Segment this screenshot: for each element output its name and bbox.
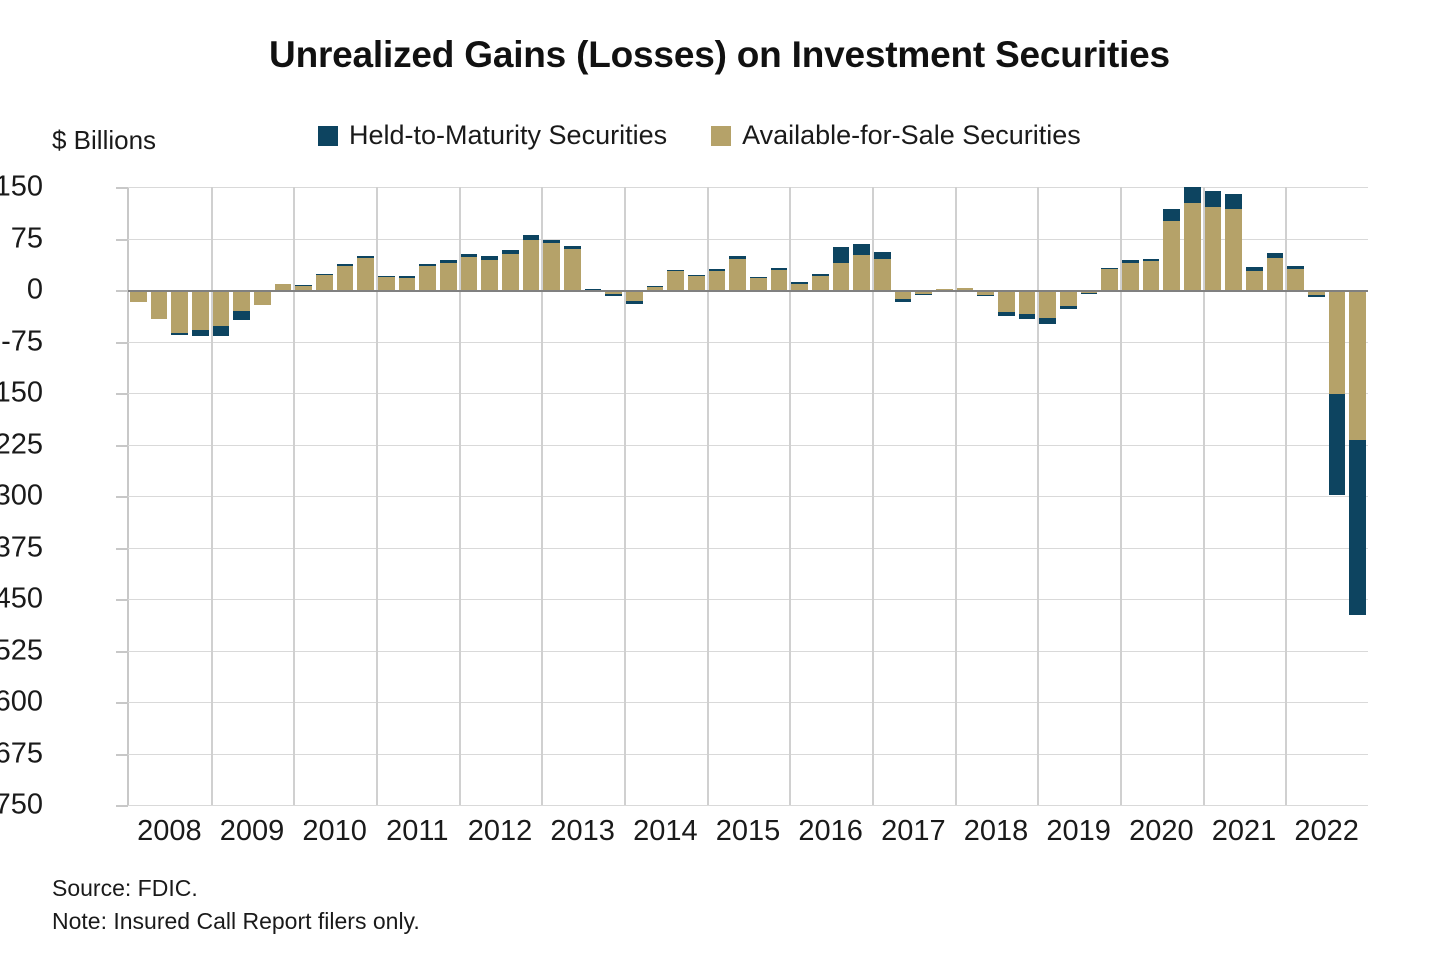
bar-segment-afs[interactable] bbox=[502, 254, 519, 290]
legend-swatch-htm-icon bbox=[318, 126, 338, 146]
y-axis-tick-label: -300 bbox=[0, 480, 43, 513]
x-axis-tick-label: 2012 bbox=[468, 815, 533, 848]
bar-segment-htm[interactable] bbox=[1287, 266, 1304, 269]
y-axis-tick-label: -450 bbox=[0, 583, 43, 616]
bar-segment-afs[interactable] bbox=[771, 270, 788, 290]
bar-segment-afs[interactable] bbox=[233, 290, 250, 311]
gridline bbox=[128, 496, 1368, 497]
x-axis-tick-label: 2016 bbox=[798, 815, 863, 848]
bar-segment-htm[interactable] bbox=[1184, 187, 1201, 203]
bar-segment-afs[interactable] bbox=[812, 276, 829, 290]
gridline bbox=[128, 445, 1368, 446]
x-axis-tick-label: 2017 bbox=[881, 815, 946, 848]
y-axis-tick bbox=[116, 702, 128, 704]
bar-segment-htm[interactable] bbox=[647, 286, 664, 287]
bar-segment-afs[interactable] bbox=[1060, 290, 1077, 306]
bar-segment-htm[interactable] bbox=[1205, 191, 1222, 207]
bar-segment-htm[interactable] bbox=[192, 330, 209, 336]
bar-segment-afs[interactable] bbox=[399, 278, 416, 290]
bar-segment-htm[interactable] bbox=[337, 264, 354, 266]
y-axis-tick bbox=[116, 548, 128, 550]
y-axis-tick-label: -375 bbox=[0, 531, 43, 564]
bar-segment-afs[interactable] bbox=[1101, 269, 1118, 290]
bar-segment-htm[interactable] bbox=[1019, 314, 1036, 319]
y-axis-tick bbox=[116, 496, 128, 498]
bar-segment-htm[interactable] bbox=[502, 250, 519, 254]
chart-title: Unrealized Gains (Losses) on Investment … bbox=[0, 34, 1439, 76]
year-separator bbox=[624, 187, 626, 805]
chart-container: Unrealized Gains (Losses) on Investment … bbox=[0, 0, 1439, 975]
bar-segment-htm[interactable] bbox=[771, 268, 788, 270]
x-axis-tick-label: 2019 bbox=[1046, 815, 1111, 848]
bar-segment-afs[interactable] bbox=[998, 290, 1015, 312]
bar-segment-htm[interactable] bbox=[853, 244, 870, 255]
x-axis-tick-label: 2011 bbox=[386, 815, 448, 848]
y-axis-tick-label: -525 bbox=[0, 634, 43, 667]
y-axis-tick bbox=[116, 342, 128, 344]
bar-segment-htm[interactable] bbox=[316, 274, 333, 275]
bar-segment-afs[interactable] bbox=[1122, 263, 1139, 290]
y-axis-tick-label: 75 bbox=[0, 222, 43, 255]
bar-segment-afs[interactable] bbox=[1287, 269, 1304, 290]
bar-segment-htm[interactable] bbox=[523, 235, 540, 240]
bar-segment-afs[interactable] bbox=[1329, 290, 1346, 394]
bar-segment-afs[interactable] bbox=[337, 266, 354, 290]
bar-segment-afs[interactable] bbox=[1163, 221, 1180, 290]
gridline bbox=[128, 342, 1368, 343]
y-axis-tick-label: -750 bbox=[0, 789, 43, 822]
y-axis-tick-label: -675 bbox=[0, 737, 43, 770]
bar-segment-afs[interactable] bbox=[1205, 207, 1222, 290]
methodology-note: Note: Insured Call Report filers only. bbox=[52, 905, 420, 938]
bar-segment-htm[interactable] bbox=[564, 246, 581, 249]
y-axis-tick-label: -225 bbox=[0, 428, 43, 461]
bar-segment-htm[interactable] bbox=[605, 294, 622, 296]
bar-segment-htm[interactable] bbox=[895, 299, 912, 302]
year-separator bbox=[211, 187, 213, 805]
bar-segment-htm[interactable] bbox=[626, 301, 643, 304]
bar-segment-afs[interactable] bbox=[1039, 290, 1056, 318]
bar-segment-htm[interactable] bbox=[1308, 295, 1325, 296]
bar-segment-htm[interactable] bbox=[481, 256, 498, 259]
bar-segment-afs[interactable] bbox=[874, 259, 891, 290]
bar-segment-afs[interactable] bbox=[564, 249, 581, 290]
bar-segment-htm[interactable] bbox=[1101, 268, 1118, 269]
bar-segment-htm[interactable] bbox=[874, 252, 891, 259]
gridline bbox=[128, 651, 1368, 652]
bar-segment-htm[interactable] bbox=[688, 275, 705, 276]
y-axis-tick bbox=[116, 239, 128, 241]
y-axis-tick-label: 0 bbox=[0, 274, 43, 307]
chart-footnotes: Source: FDIC. Note: Insured Call Report … bbox=[52, 872, 420, 937]
bar-segment-afs[interactable] bbox=[709, 271, 726, 290]
bar-segment-htm[interactable] bbox=[1039, 318, 1056, 324]
bar-segment-htm[interactable] bbox=[440, 260, 457, 263]
y-axis-tick-label: -600 bbox=[0, 686, 43, 719]
legend-label-htm: Held-to-Maturity Securities bbox=[349, 122, 667, 149]
x-axis-tick-label: 2020 bbox=[1129, 815, 1194, 848]
bar-segment-afs[interactable] bbox=[1349, 290, 1366, 440]
y-axis-tick bbox=[116, 805, 128, 807]
x-axis-tick-label: 2022 bbox=[1294, 815, 1359, 848]
bar-segment-htm[interactable] bbox=[709, 269, 726, 271]
bar-segment-htm[interactable] bbox=[233, 311, 250, 321]
chart-legend: Held-to-Maturity SecuritiesAvailable-for… bbox=[318, 122, 1081, 149]
bar-segment-htm[interactable] bbox=[1060, 306, 1077, 309]
gridline bbox=[128, 805, 1368, 806]
y-axis-tick bbox=[116, 290, 128, 292]
bar-segment-afs[interactable] bbox=[254, 290, 271, 305]
bar-segment-htm[interactable] bbox=[667, 270, 684, 271]
bar-segment-htm[interactable] bbox=[1349, 440, 1366, 614]
bar-segment-htm[interactable] bbox=[461, 254, 478, 257]
bar-segment-afs[interactable] bbox=[440, 263, 457, 290]
x-axis-tick-label: 2021 bbox=[1212, 815, 1277, 848]
x-axis-tick-label: 2014 bbox=[633, 815, 698, 848]
bar-segment-htm[interactable] bbox=[812, 274, 829, 276]
bar-segment-afs[interactable] bbox=[667, 271, 684, 290]
bar-segment-afs[interactable] bbox=[543, 243, 560, 290]
bar-segment-htm[interactable] bbox=[915, 294, 932, 295]
source-note: Source: FDIC. bbox=[52, 872, 420, 905]
bar-segment-afs[interactable] bbox=[378, 277, 395, 290]
bar-segment-afs[interactable] bbox=[729, 259, 746, 290]
bar-segment-htm[interactable] bbox=[977, 295, 994, 296]
bar-segment-afs[interactable] bbox=[419, 266, 436, 290]
bar-segment-afs[interactable] bbox=[151, 290, 168, 319]
bar-segment-htm[interactable] bbox=[543, 240, 560, 243]
y-axis-tick bbox=[116, 651, 128, 653]
bar-segment-afs[interactable] bbox=[1267, 258, 1284, 290]
x-axis-tick-label: 2013 bbox=[550, 815, 615, 848]
y-axis-tick bbox=[116, 393, 128, 395]
plot-area: 150750-75-150-225-300-375-450-525-600-67… bbox=[128, 187, 1368, 805]
bar-segment-htm[interactable] bbox=[729, 256, 746, 259]
bar-segment-afs[interactable] bbox=[481, 260, 498, 290]
bar-segment-afs[interactable] bbox=[1246, 271, 1263, 290]
bar-segment-htm[interactable] bbox=[833, 247, 850, 262]
gridline bbox=[128, 599, 1368, 600]
y-axis-tick bbox=[116, 754, 128, 756]
legend-label-afs: Available-for-Sale Securities bbox=[742, 122, 1081, 149]
bar-segment-htm[interactable] bbox=[1163, 209, 1180, 221]
gridline bbox=[128, 393, 1368, 394]
y-axis-tick bbox=[116, 187, 128, 189]
y-axis-tick bbox=[116, 445, 128, 447]
bar-segment-htm[interactable] bbox=[357, 256, 374, 258]
x-axis-tick-label: 2009 bbox=[220, 815, 285, 848]
year-separator bbox=[1037, 187, 1039, 805]
gridline bbox=[128, 239, 1368, 240]
year-separator bbox=[293, 187, 295, 805]
bar-segment-htm[interactable] bbox=[1081, 293, 1098, 294]
bar-segment-htm[interactable] bbox=[1246, 267, 1263, 271]
bar-segment-afs[interactable] bbox=[316, 275, 333, 290]
y-axis-unit-label: $ Billions bbox=[52, 125, 156, 156]
y-axis-tick-label: -150 bbox=[0, 377, 43, 410]
year-separator bbox=[955, 187, 957, 805]
bar-segment-htm[interactable] bbox=[171, 333, 188, 336]
bar-segment-afs[interactable] bbox=[833, 263, 850, 290]
bar-segment-afs[interactable] bbox=[171, 290, 188, 333]
legend-item-afs[interactable]: Available-for-Sale Securities bbox=[711, 122, 1081, 149]
bar-segment-afs[interactable] bbox=[461, 257, 478, 290]
gridline bbox=[128, 754, 1368, 755]
bar-segment-afs[interactable] bbox=[688, 276, 705, 290]
legend-item-htm[interactable]: Held-to-Maturity Securities bbox=[318, 122, 667, 149]
bar-segment-htm[interactable] bbox=[791, 282, 808, 283]
bar-segment-htm[interactable] bbox=[1267, 253, 1284, 258]
bar-segment-afs[interactable] bbox=[750, 278, 767, 290]
bar-segment-htm[interactable] bbox=[419, 264, 436, 266]
x-axis-tick-label: 2018 bbox=[964, 815, 1029, 848]
bar-segment-afs[interactable] bbox=[853, 255, 870, 290]
bar-segment-htm[interactable] bbox=[378, 276, 395, 277]
bar-segment-afs[interactable] bbox=[1184, 203, 1201, 290]
zero-baseline bbox=[128, 290, 1368, 292]
legend-swatch-afs-icon bbox=[711, 126, 731, 146]
x-axis-tick-label: 2015 bbox=[716, 815, 781, 848]
y-axis-tick bbox=[116, 599, 128, 601]
bar-segment-htm[interactable] bbox=[295, 285, 312, 286]
x-axis-tick-label: 2008 bbox=[137, 815, 202, 848]
gridline bbox=[128, 548, 1368, 549]
y-axis-tick-label: -75 bbox=[0, 325, 43, 358]
bar-segment-htm[interactable] bbox=[399, 276, 416, 277]
bar-segment-afs[interactable] bbox=[523, 240, 540, 290]
bar-segment-afs[interactable] bbox=[213, 290, 230, 326]
bar-segment-htm[interactable] bbox=[998, 312, 1015, 316]
gridline bbox=[128, 187, 1368, 188]
bar-segment-htm[interactable] bbox=[1225, 194, 1242, 209]
bar-segment-afs[interactable] bbox=[1019, 290, 1036, 314]
bar-segment-afs[interactable] bbox=[1143, 261, 1160, 290]
bar-segment-afs[interactable] bbox=[357, 258, 374, 290]
gridline bbox=[128, 702, 1368, 703]
y-axis-tick-label: 150 bbox=[0, 171, 43, 204]
year-separator bbox=[789, 187, 791, 805]
bar-segment-htm[interactable] bbox=[1143, 259, 1160, 261]
bar-segment-afs[interactable] bbox=[192, 290, 209, 330]
bar-segment-htm[interactable] bbox=[1122, 260, 1139, 262]
bar-segment-afs[interactable] bbox=[1225, 209, 1242, 290]
x-axis-tick-label: 2010 bbox=[302, 815, 367, 848]
bar-segment-htm[interactable] bbox=[750, 277, 767, 278]
bar-segment-htm[interactable] bbox=[213, 326, 230, 336]
bar-segment-htm[interactable] bbox=[1329, 394, 1346, 494]
